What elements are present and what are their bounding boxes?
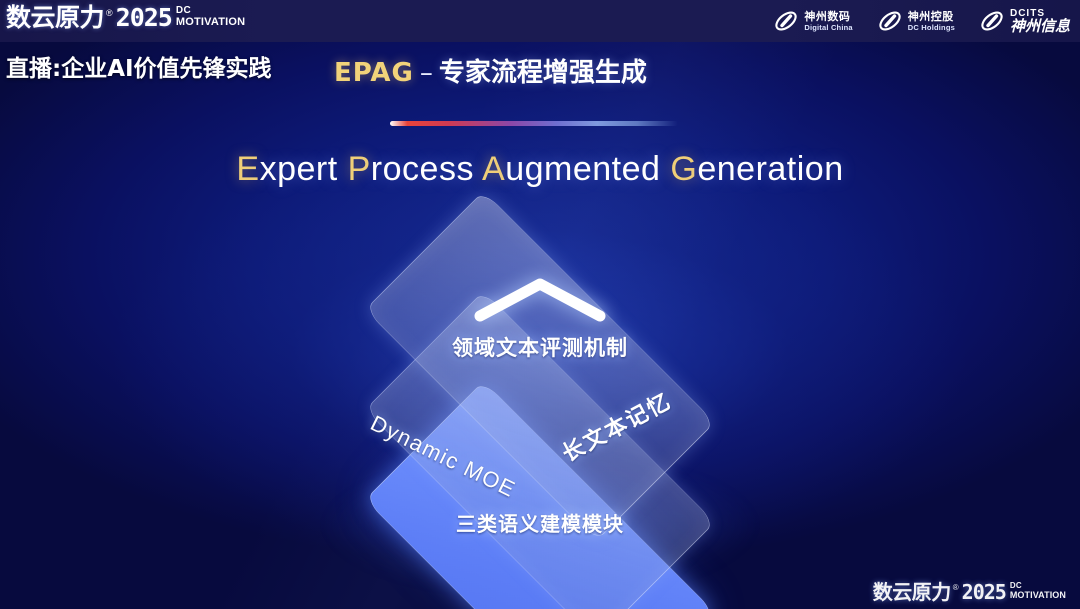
- logo-dcits: DCITS 神州信息: [979, 8, 1070, 34]
- page-title: EPAG–专家流程增强生成: [334, 52, 647, 89]
- subtitle-expanded: Expert Process Augmented Generation: [0, 150, 1080, 189]
- partner-logos: 神州数码 Digital China 神州控股 DC Holdings: [773, 4, 1070, 38]
- brand-year: 2025: [116, 4, 172, 32]
- brand-dc-line2: MOTIVATION: [176, 16, 245, 28]
- page-title-abbr: EPAG: [334, 58, 414, 88]
- logo-label-cn: 神州数码: [804, 11, 852, 22]
- swirl-icon: [979, 8, 1005, 34]
- watermark-name-cn: 数云原力: [873, 581, 951, 603]
- stack-label-top: 领域文本评测机制: [0, 332, 1080, 362]
- logo-label-en: Digital China: [804, 24, 852, 32]
- subtitle-cap-p: P: [348, 150, 371, 188]
- brand-logo-top-left: 数云原力 ® 2025 DC MOTIVATION: [6, 4, 245, 32]
- logo-digital-china: 神州数码 Digital China: [773, 8, 852, 34]
- page-title-cn: 专家流程增强生成: [439, 58, 647, 88]
- gradient-divider: [390, 121, 678, 126]
- subtitle-rest-expert: xpert: [260, 150, 338, 188]
- logo-label-cn: 神州控股: [908, 11, 955, 22]
- live-stream-title: 直播:企业AI价值先锋实践: [6, 49, 272, 83]
- brand-dc-line1: DC: [176, 6, 245, 16]
- slide-canvas: 数云原力 ® 2025 DC MOTIVATION 神州数码 Digital C…: [0, 0, 1080, 609]
- swirl-icon: [773, 8, 799, 34]
- watermark-dc-line2: MOTIVATION: [1010, 590, 1066, 600]
- subtitle-rest-augmented: ugmented: [505, 150, 660, 188]
- subtitle-cap-g: G: [670, 150, 697, 188]
- top-bar: 数云原力 ® 2025 DC MOTIVATION 神州数码 Digital C…: [0, 0, 1080, 42]
- subtitle-cap-a: A: [482, 150, 505, 188]
- brand-name-cn: 数云原力: [6, 4, 104, 32]
- subtitle-rest-process: rocess: [371, 150, 474, 188]
- logo-dc-holdings: 神州控股 DC Holdings: [877, 8, 955, 34]
- logo-label-en: DC Holdings: [908, 24, 955, 32]
- watermark-dc-line1: DC: [1010, 582, 1066, 590]
- watermark-registered-mark: ®: [953, 583, 959, 593]
- page-title-dash: –: [420, 58, 433, 88]
- swirl-icon: [877, 8, 903, 34]
- stack-label-bottom: 三类语义建模模块: [0, 508, 1080, 537]
- registered-mark: ®: [106, 7, 113, 19]
- watermark-logo-bottom-right: 数云原力 ® 2025 DC MOTIVATION: [873, 581, 1066, 603]
- subtitle-cap-e: E: [236, 150, 259, 188]
- logo-label-cn: 神州信息: [1010, 19, 1070, 34]
- watermark-dc-motivation: DC MOTIVATION: [1010, 582, 1066, 600]
- brand-dc-motivation: DC MOTIVATION: [176, 6, 245, 28]
- watermark-year: 2025: [962, 581, 1006, 603]
- subtitle-rest-generation: eneration: [697, 150, 843, 188]
